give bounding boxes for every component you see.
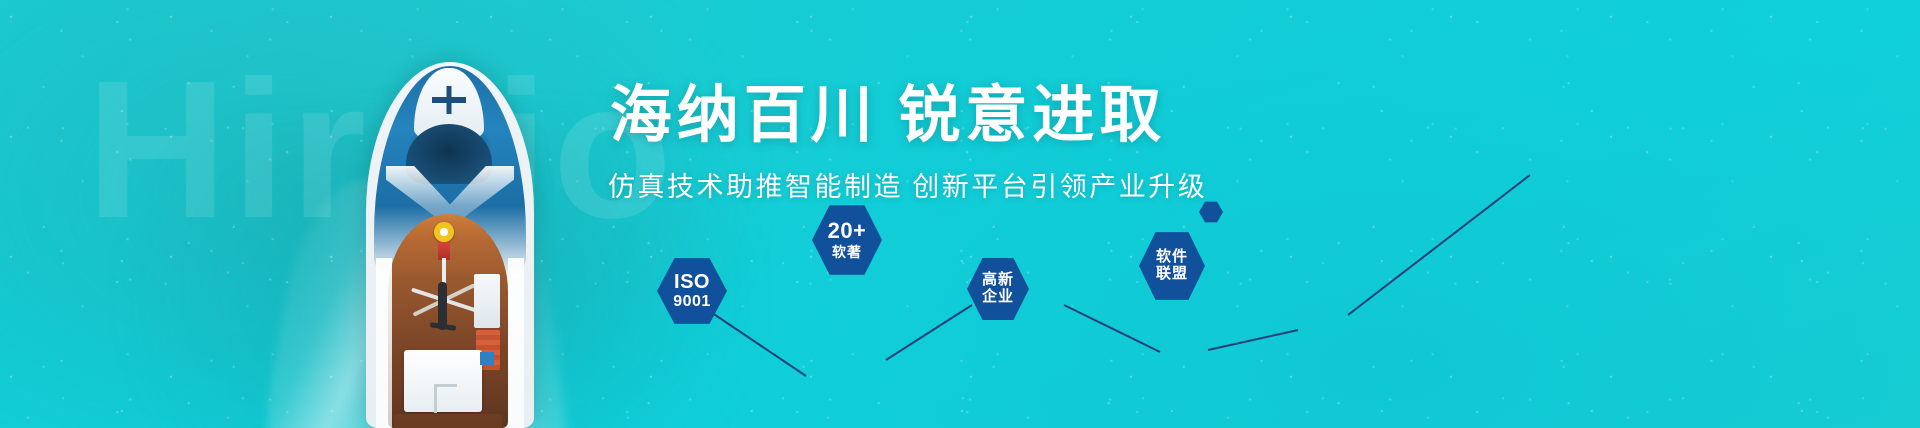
connector-line-2 <box>886 305 972 360</box>
hero-banner: Hirdio 海纳百川 锐意进取 仿真技术助推智能制造 创新平台引领产业 <box>0 0 1920 428</box>
connector-line-5 <box>1348 175 1530 315</box>
connector-line-4 <box>1208 330 1298 350</box>
badge-connector-lines <box>0 0 1920 428</box>
connector-line-3 <box>1064 305 1160 352</box>
connector-line-1 <box>672 286 806 376</box>
